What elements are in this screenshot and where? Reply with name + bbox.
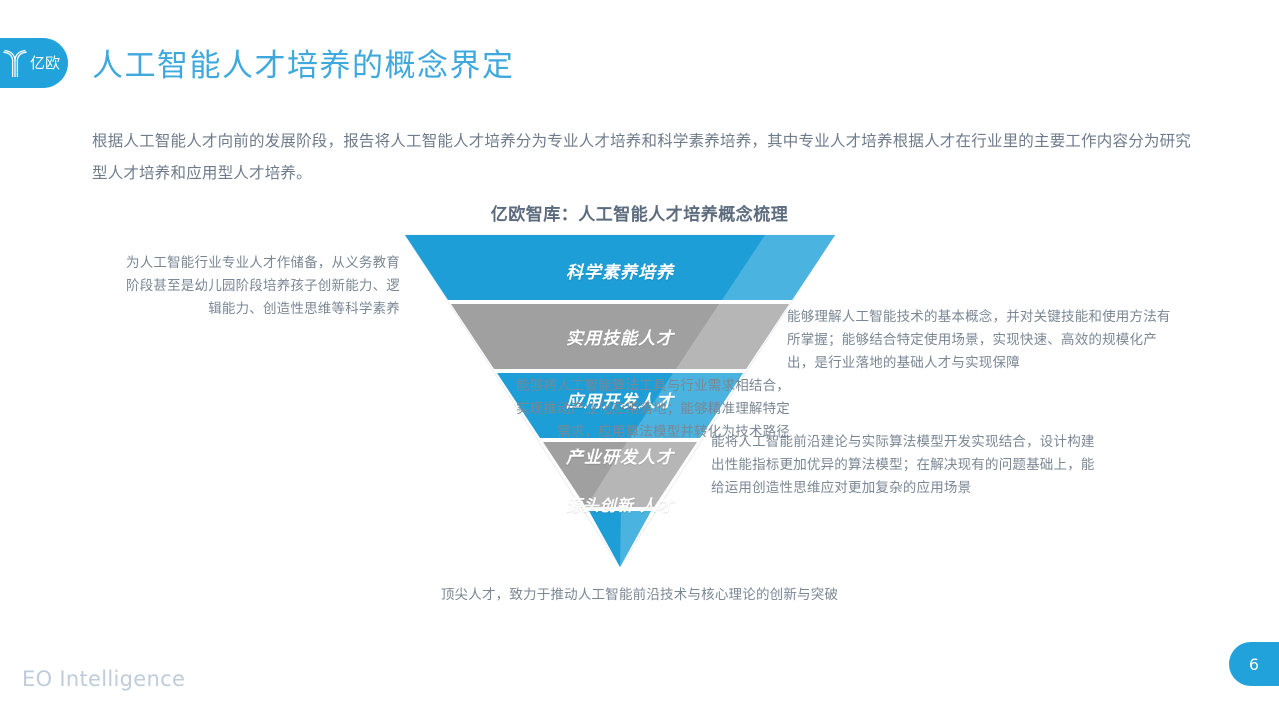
funnel-level-1 — [451, 304, 789, 369]
page-number-badge: 6 — [1229, 642, 1279, 686]
figure-title: 亿欧智库：人工智能人才培养概念梳理 — [0, 200, 1279, 225]
annotation-industry-rnd: 能将人工智能前沿建论与实际算法模型开发实现结合，设计构建出性能指标更加优异的算法… — [711, 431, 1103, 500]
funnel-level-4 — [589, 511, 651, 567]
eo-tree-logo-icon — [2, 48, 28, 78]
intro-paragraph: 根据人工智能人才向前的发展阶段，报告将人工智能人才培养分为专业人才培养和科学素养… — [92, 125, 1192, 189]
funnel-level-0 — [405, 235, 835, 300]
logo-wordmark: 亿欧 — [30, 56, 60, 71]
page-title: 人工智能人才培养的概念界定 — [92, 40, 515, 85]
annotation-origin-innovation: 顶尖人才，致力于推动人工智能前沿技术与核心理论的创新与突破 — [0, 583, 1279, 603]
slide-canvas: 亿欧 人工智能人才培养的概念界定 根据人工智能人才向前的发展阶段，报告将人工智能… — [0, 0, 1279, 719]
brand-logo: 亿欧 — [0, 38, 68, 88]
footer-brand: EO Intelligence — [22, 667, 185, 691]
annotation-science-literacy: 为人工智能行业专业人才作储备，从义务教育阶段甚至是幼儿园阶段培养孩子创新能力、逻… — [120, 252, 400, 321]
annotation-practical-skills: 能够理解人工智能技术的基本概念，并对关键技能和使用方法有所掌握；能够结合特定使用… — [787, 306, 1177, 375]
funnel-level-3 — [543, 442, 697, 507]
